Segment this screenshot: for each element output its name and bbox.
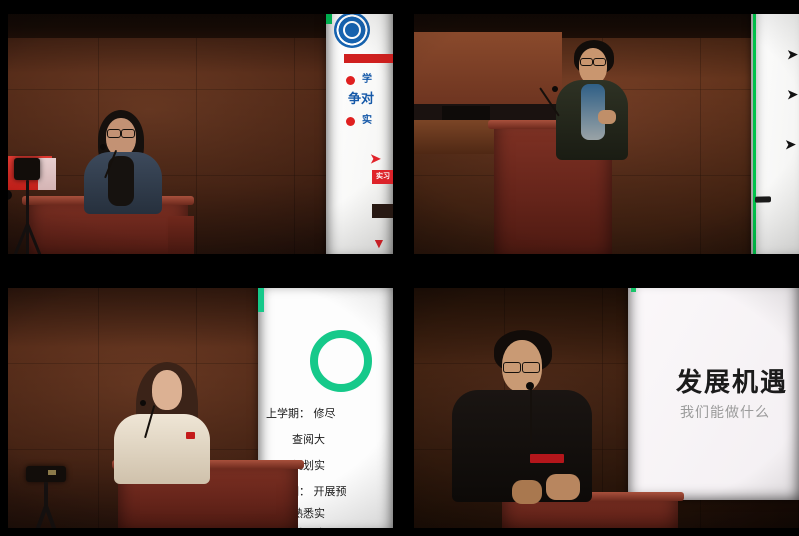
- photo-collage: 学 争对 实 ➤ 实习 ▼: [0, 0, 799, 536]
- slide-bullet-text-2: 争对: [348, 92, 374, 105]
- university-crest-icon: [334, 12, 370, 48]
- slide-subtitle: 我们能做什么: [680, 406, 770, 420]
- panel-letterbox-top: [406, 274, 799, 288]
- chevron-right-icon: ➤: [787, 88, 798, 101]
- panel-letterbox-bottom: [406, 254, 799, 262]
- panel-letterbox-bottom: [0, 528, 393, 536]
- speaker-glasses-right: [121, 129, 135, 138]
- panel-letterbox-top: [406, 0, 799, 14]
- panel-letterbox-left: [0, 274, 8, 536]
- slide-line-1: 上学期： 修尽: [266, 408, 336, 419]
- speaker-hand-left: [512, 480, 542, 504]
- collage-panel-top-left: 学 争对 实 ➤ 实习 ▼: [0, 0, 393, 262]
- slide-red-callout-badge: 实习: [372, 170, 393, 184]
- video-camera: [26, 466, 66, 482]
- panel-letterbox-left: [406, 274, 414, 536]
- speaker-hand-right: [546, 474, 580, 500]
- microphone-head: [140, 400, 146, 406]
- slide-red-arrow-icon: ➤: [370, 152, 381, 165]
- speaker-glasses-left: [107, 129, 121, 138]
- microphone-head: [526, 382, 534, 390]
- slide-bullet-text-1: 学: [362, 75, 372, 85]
- tripod-column: [26, 180, 29, 226]
- slide-red-title-bar: [344, 54, 393, 63]
- speaker-glasses-right: [593, 58, 606, 66]
- microphone-head: [100, 144, 106, 150]
- slide-bullet-dot: [346, 76, 355, 85]
- panel-letterbox-top: [0, 0, 393, 14]
- poster-board: [38, 158, 56, 190]
- slide-bullet-dot-2: [346, 117, 355, 126]
- panel-letterbox-left: [0, 0, 8, 262]
- slide-line-2: 查阅大: [292, 434, 325, 445]
- speaker-glasses-right: [522, 362, 540, 373]
- speaker-badge: [530, 454, 564, 463]
- speaker-head: [152, 370, 182, 410]
- slide-title: 发展机遇: [676, 370, 788, 396]
- panel-letterbox-bottom: [406, 528, 799, 536]
- side-wall-panel: [412, 32, 562, 106]
- slide-bullet-text-3: 实: [362, 116, 372, 126]
- panel-letterbox-bottom: [0, 254, 393, 262]
- speaker-sweater: [114, 414, 210, 484]
- collage-panel-top-right: ➤ ➤ ➤: [406, 0, 799, 262]
- speaker-badge: [186, 432, 195, 439]
- collage-panel-bottom-left: 上学期： 修尽 查阅大 规划实 下学期： 开展预 熟悉实 对正式: [0, 274, 393, 536]
- projection-screen: 发展机遇 我们能做什么: [628, 278, 799, 500]
- video-camera: [14, 158, 40, 180]
- screen-green-edge: [753, 0, 756, 262]
- speaker-glasses-left: [503, 362, 521, 373]
- speaker-glasses-left: [580, 58, 593, 66]
- slide-dark-chip: [372, 204, 393, 218]
- slide-ring-graphic: [310, 330, 372, 392]
- slide-red-arrow-icon-2: ▼: [372, 236, 386, 250]
- camera-label: [48, 470, 56, 475]
- chevron-right-icon: ➤: [787, 48, 798, 61]
- projection-screen: 学 争对 实 ➤ 实习 ▼: [326, 0, 393, 262]
- microphone-head: [552, 86, 558, 92]
- slide-footer-mark: [755, 196, 771, 202]
- panel-letterbox-left: [406, 0, 414, 262]
- panel-letterbox-top: [0, 274, 393, 288]
- projection-screen: ➤ ➤ ➤: [751, 0, 799, 262]
- microphone-stem: [530, 386, 532, 444]
- chevron-right-icon: ➤: [785, 138, 796, 151]
- speaker-head: [579, 48, 607, 84]
- speaker-hand: [598, 110, 616, 124]
- collage-panel-bottom-right: 发展机遇 我们能做什么: [406, 274, 799, 536]
